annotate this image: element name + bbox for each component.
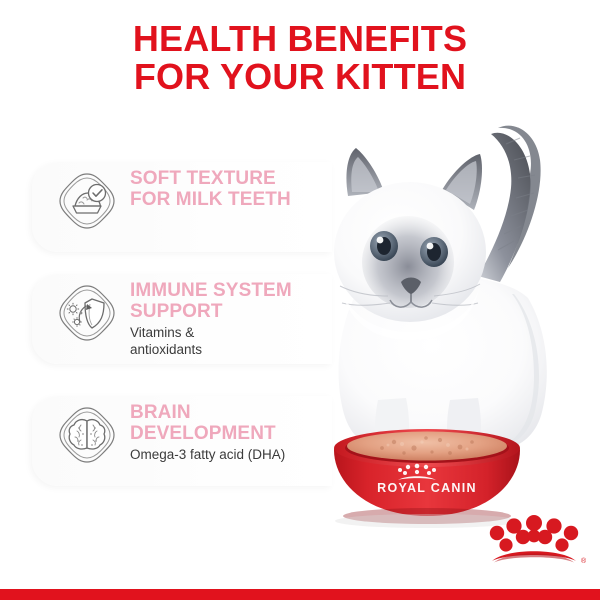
promo-canvas: HEALTH BENEFITS FOR YOUR KITTEN	[0, 0, 600, 600]
page-title: HEALTH BENEFITS FOR YOUR KITTEN	[0, 20, 600, 96]
benefit-subtext: Vitamins & antioxidants	[130, 325, 292, 358]
royal-canin-crown-icon: ®	[482, 512, 586, 574]
benefit-heading: SOFT TEXTURE FOR MILK TEETH	[130, 169, 291, 210]
benefit-text-block: SOFT TEXTURE FOR MILK TEETH	[130, 169, 291, 213]
benefits-list: SOFT TEXTURE FOR MILK TEETH	[0, 160, 360, 486]
benefit-text-block: IMMUNE SYSTEM SUPPORT Vitamins & antioxi…	[130, 281, 292, 358]
benefit-item-brain-development[interactable]: BRAIN DEVELOPMENT Omega-3 fatty acid (DH…	[0, 394, 360, 486]
footer-accent-bar	[0, 589, 600, 600]
benefit-item-soft-texture[interactable]: SOFT TEXTURE FOR MILK TEETH	[0, 160, 360, 252]
bowl-check-icon	[56, 170, 118, 232]
benefit-subtext: Omega-3 fatty acid (DHA)	[130, 447, 285, 463]
brain-icon	[56, 404, 118, 466]
benefit-item-immune-system[interactable]: IMMUNE SYSTEM SUPPORT Vitamins & antioxi…	[0, 272, 360, 364]
svg-text:®: ®	[581, 557, 586, 565]
benefit-heading: BRAIN DEVELOPMENT	[130, 403, 285, 444]
benefit-heading: IMMUNE SYSTEM SUPPORT	[130, 281, 292, 322]
benefit-text-block: BRAIN DEVELOPMENT Omega-3 fatty acid (DH…	[130, 403, 285, 464]
kitten-tail	[478, 126, 541, 282]
page-title-line-2: FOR YOUR KITTEN	[0, 58, 600, 96]
bowl-brand-label: ROYAL CANIN	[377, 481, 477, 495]
page-title-line-1: HEALTH BENEFITS	[0, 20, 600, 58]
shield-germs-icon	[56, 282, 118, 344]
